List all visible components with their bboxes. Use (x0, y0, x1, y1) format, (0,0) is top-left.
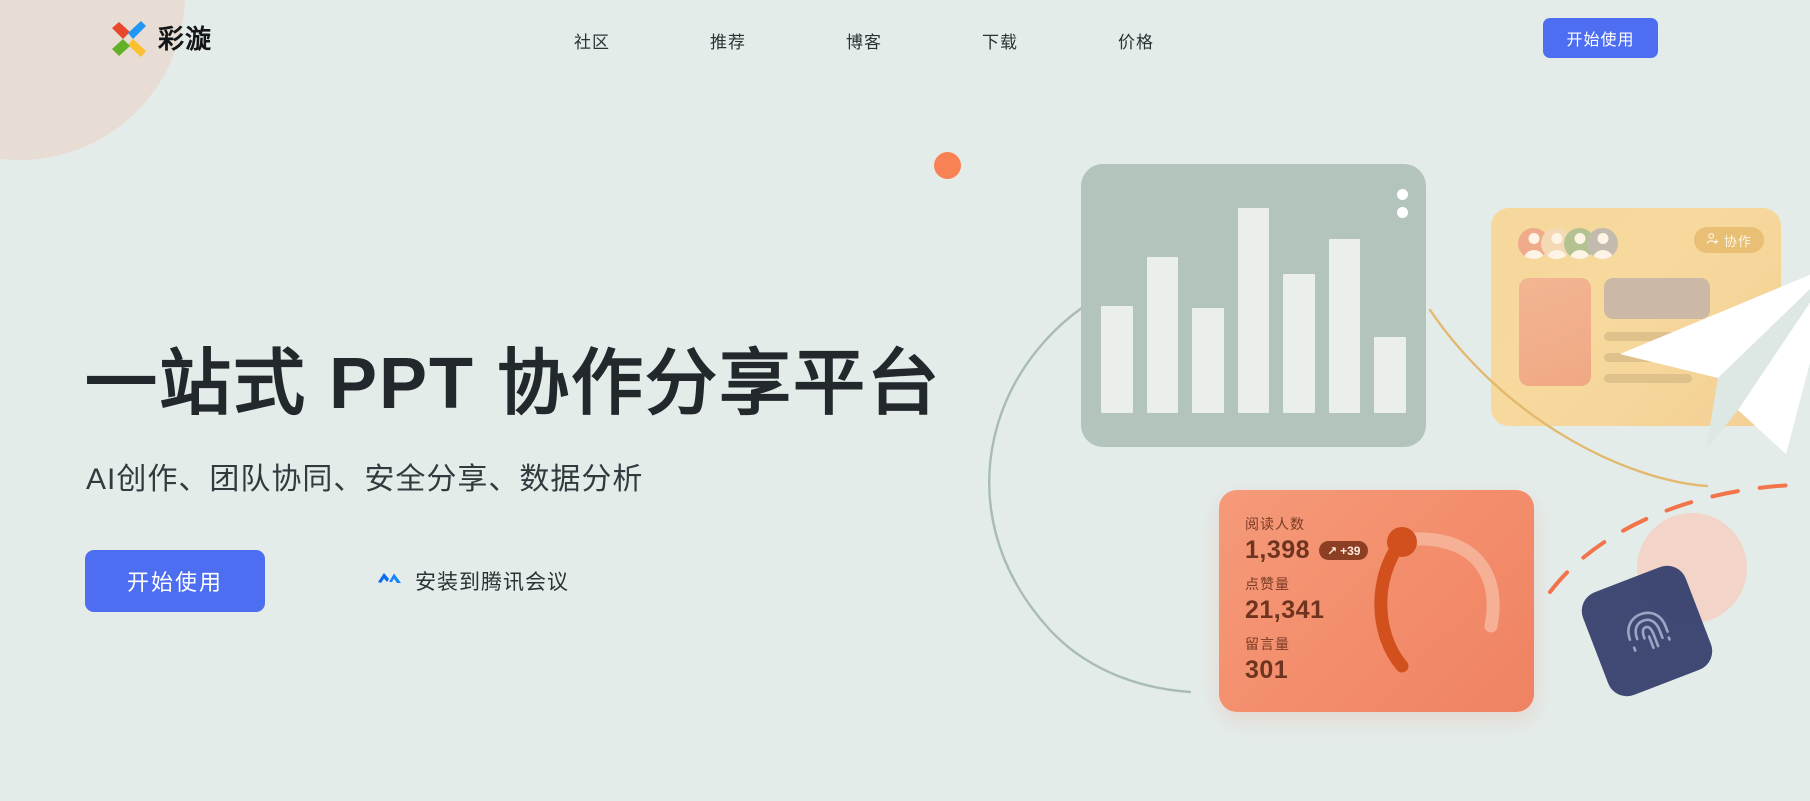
page-root: 彩漩 社区 推荐 博客 下载 价格 开始使用 一站式 PPT 协作分享平台 AI… (0, 0, 1810, 801)
start-button[interactable]: 开始使用 (85, 550, 265, 612)
stat-delta-value: +39 (1340, 544, 1360, 558)
stat-value: 21,341 (1245, 596, 1324, 625)
stat-number: 21,341 (1245, 596, 1324, 625)
bar (1238, 208, 1270, 413)
page-subtitle: AI创作、团队协同、安全分享、数据分析 (86, 454, 643, 498)
stat-likes: 点赞量 21,341 (1245, 574, 1324, 625)
stat-number: 1,398 (1245, 536, 1310, 565)
person-add-icon (1706, 232, 1719, 248)
decorative-orange-dot (934, 152, 961, 179)
colorful-x-pinwheel-icon (108, 18, 150, 60)
stat-number: 301 (1245, 656, 1288, 685)
stat-value: 1,398 ↗ +39 (1245, 536, 1368, 565)
avatar-group (1518, 228, 1610, 259)
header-start-button[interactable]: 开始使用 (1543, 18, 1658, 58)
nav-item-community[interactable]: 社区 (574, 28, 610, 53)
main-nav: 社区 推荐 博客 下载 价格 (574, 0, 1154, 80)
paper-plane-icon (1600, 258, 1810, 513)
arrow-up-right-icon: ↗ (1327, 544, 1337, 558)
nav-item-blog[interactable]: 博客 (846, 28, 882, 53)
progress-ring-icon (1360, 514, 1520, 679)
nav-item-download[interactable]: 下载 (982, 28, 1018, 53)
bar (1192, 308, 1224, 413)
brand-name: 彩漩 (158, 18, 212, 60)
fingerprint-icon (1611, 595, 1683, 667)
install-link-label: 安装到腾讯会议 (415, 566, 569, 596)
collaborate-badge[interactable]: 协作 (1694, 227, 1764, 253)
stat-value: 301 (1245, 656, 1290, 685)
avatar (1587, 228, 1618, 259)
bar (1147, 257, 1179, 413)
stat-label: 点赞量 (1245, 574, 1324, 594)
hero-actions: 开始使用 安装到腾讯会议 (85, 550, 569, 612)
bar-chart-card (1081, 164, 1426, 447)
stat-reads: 阅读人数 1,398 ↗ +39 (1245, 514, 1368, 565)
nav-item-recommend[interactable]: 推荐 (710, 28, 746, 53)
bar-chart (1101, 208, 1406, 413)
tencent-meeting-icon (377, 569, 403, 593)
bar (1101, 306, 1133, 413)
stat-label: 阅读人数 (1245, 514, 1368, 534)
stat-comments: 留言量 301 (1245, 634, 1290, 685)
site-header: 彩漩 社区 推荐 博客 下载 价格 开始使用 (0, 0, 1810, 80)
bar (1329, 239, 1361, 413)
brand-logo[interactable]: 彩漩 (108, 18, 212, 60)
nav-item-pricing[interactable]: 价格 (1118, 28, 1154, 53)
statistics-card: 阅读人数 1,398 ↗ +39 点赞量 21,341 留言量 301 (1219, 490, 1534, 712)
stat-label: 留言量 (1245, 634, 1290, 654)
collaborate-badge-label: 协作 (1724, 231, 1752, 250)
install-tencent-meeting-link[interactable]: 安装到腾讯会议 (377, 566, 569, 596)
page-title: 一站式 PPT 协作分享平台 (85, 348, 941, 420)
bar (1283, 274, 1315, 413)
